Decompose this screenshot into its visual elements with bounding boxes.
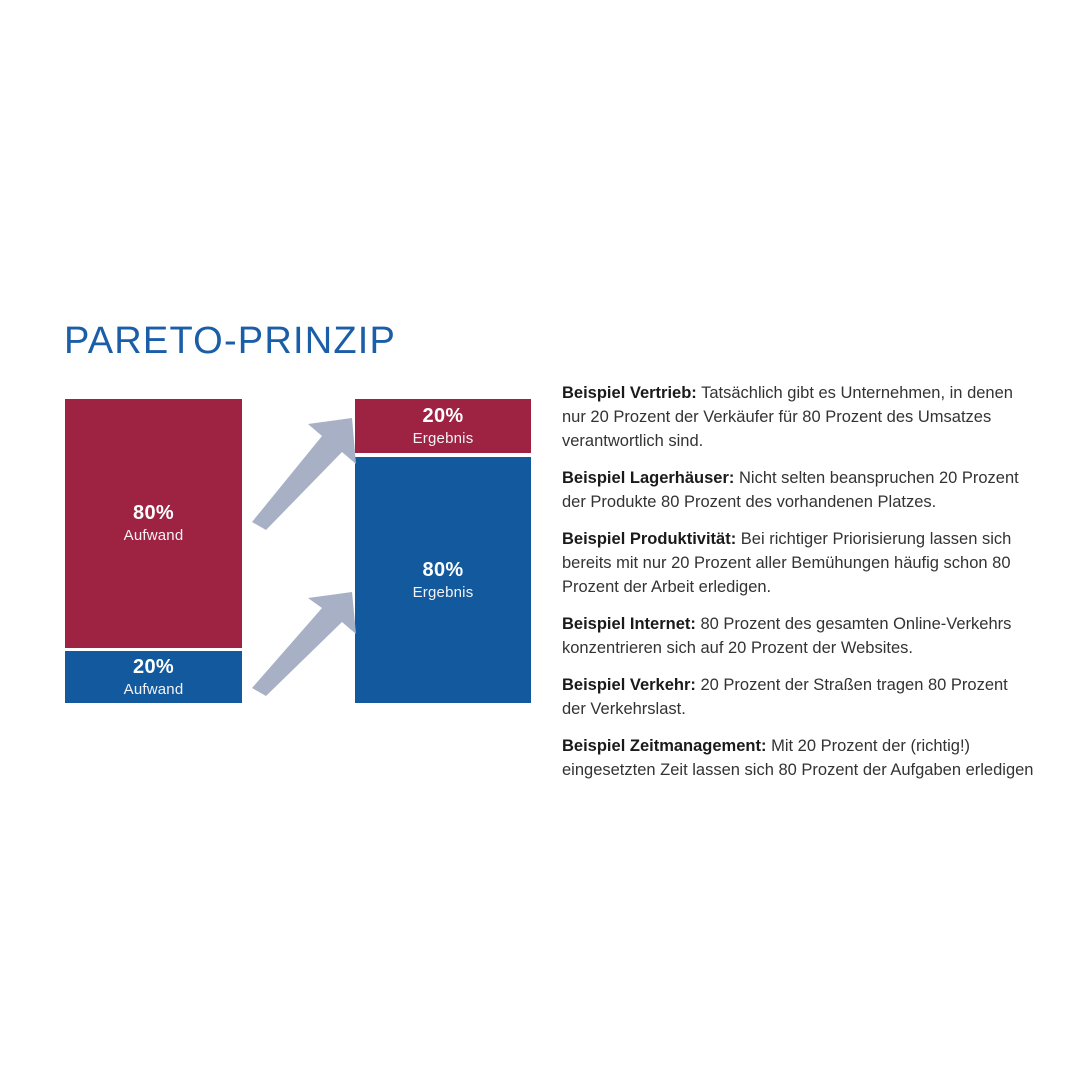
bar-result-80: 80% Ergebnis (355, 457, 531, 703)
arrow-up-right-icon (248, 418, 356, 530)
bar-result-20-percent: 20% (423, 404, 464, 429)
example-term: Beispiel Lagerhäuser: (562, 469, 734, 487)
bar-effort-20-percent: 20% (133, 655, 174, 680)
example-item: Beispiel Verkehr: 20 Prozent der Straßen… (562, 673, 1034, 721)
bar-result-80-label: Ergebnis (413, 583, 474, 603)
arrow-up-right-icon (248, 592, 356, 696)
example-term: Beispiel Produktivität: (562, 530, 736, 548)
bar-effort-20-label: Aufwand (124, 680, 184, 700)
example-term: Beispiel Verkehr: (562, 676, 696, 694)
bar-effort-80-percent: 80% (133, 501, 174, 526)
example-item: Beispiel Internet: 80 Prozent des gesamt… (562, 612, 1034, 660)
pareto-diagram: 80% Aufwand 20% Aufwand 20% Ergebnis 80%… (0, 0, 545, 1080)
example-term: Beispiel Vertrieb: (562, 384, 697, 402)
bar-result-80-percent: 80% (423, 558, 464, 583)
example-term: Beispiel Internet: (562, 615, 696, 633)
example-item: Beispiel Produktivität: Bei richtiger Pr… (562, 527, 1034, 599)
bar-effort-20: 20% Aufwand (65, 651, 242, 703)
slide-canvas: PARETO-PRINZIP 80% Aufwand 20% Aufwand 2… (0, 0, 1080, 1080)
bar-result-20-label: Ergebnis (413, 429, 474, 449)
example-item: Beispiel Vertrieb: Tatsächlich gibt es U… (562, 381, 1034, 453)
bar-result-20: 20% Ergebnis (355, 399, 531, 453)
bar-effort-80-label: Aufwand (124, 526, 184, 546)
bar-effort-80: 80% Aufwand (65, 399, 242, 648)
example-item: Beispiel Zeitmanagement: Mit 20 Prozent … (562, 734, 1034, 782)
example-item: Beispiel Lagerhäuser: Nicht selten beans… (562, 466, 1034, 514)
examples-list: Beispiel Vertrieb: Tatsächlich gibt es U… (562, 381, 1034, 782)
example-term: Beispiel Zeitmanagement: (562, 737, 766, 755)
